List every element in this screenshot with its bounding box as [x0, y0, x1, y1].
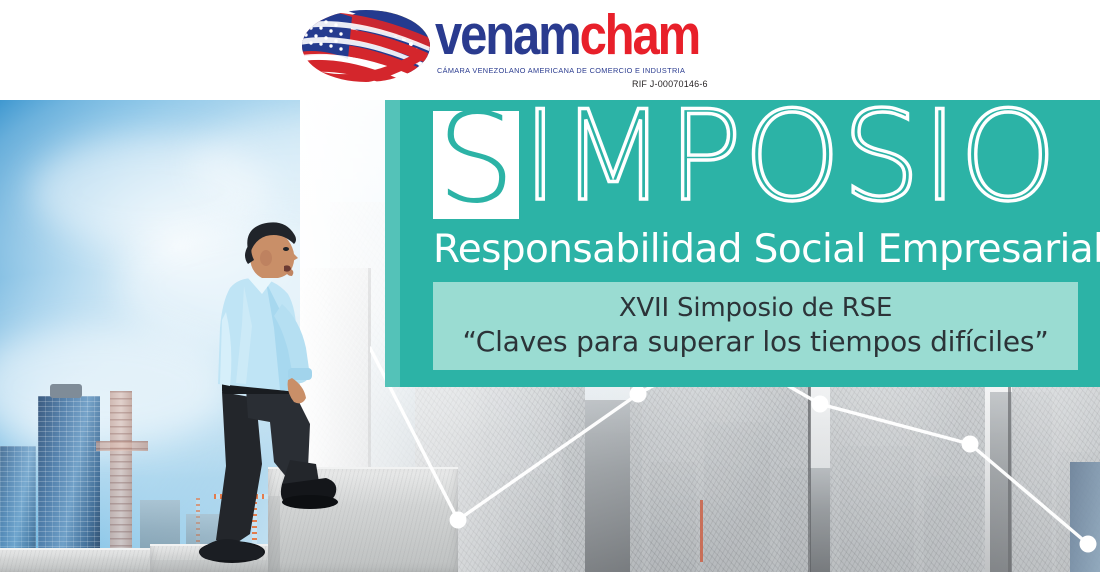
- simposio-title: S IMPOSIO: [433, 111, 1058, 223]
- tower-roof-box: [50, 384, 82, 398]
- event-edition-label: XVII Simposio de RSE: [619, 292, 892, 324]
- logo-tagline: CÁMARA VENEZOLANO AMERICANA DE COMERCIO …: [437, 66, 734, 75]
- wordmark-venam: venam: [435, 3, 580, 67]
- logo-rif-number: RIF J-00070146-6: [632, 79, 708, 89]
- brick-tower: [110, 391, 132, 572]
- simposio-s-letter: S: [437, 105, 516, 213]
- hero-teal-panel: S IMPOSIO Responsabilidad Social Empresa…: [385, 100, 1100, 387]
- simposio-title-rest: IMPOSIO: [522, 103, 1058, 211]
- venamcham-flag-emblem: [300, 7, 432, 85]
- event-info-band: XVII Simposio de RSE “Claves para supera…: [433, 282, 1078, 370]
- blue-glass-tower: [38, 396, 100, 572]
- header-white-band: venamcham CÁMARA VENEZOLANO AMERICANA DE…: [0, 0, 1100, 100]
- brick-tower: [96, 441, 148, 451]
- businessman-figure: [170, 216, 360, 572]
- panel-left-accent-strip: [385, 100, 400, 387]
- venamcham-logo[interactable]: venamcham CÁMARA VENEZOLANO AMERICANA DE…: [300, 2, 740, 98]
- simposio-s-box: S: [433, 111, 519, 219]
- hero-subtitle: Responsabilidad Social Empresarial: [433, 228, 1100, 272]
- event-theme-label: “Claves para superar los tiempos difícil…: [462, 324, 1048, 360]
- venamcham-wordmark: venamcham: [435, 4, 693, 66]
- poster-root: S IMPOSIO Responsabilidad Social Empresa…: [0, 0, 1100, 572]
- wordmark-cham: cham: [580, 3, 699, 67]
